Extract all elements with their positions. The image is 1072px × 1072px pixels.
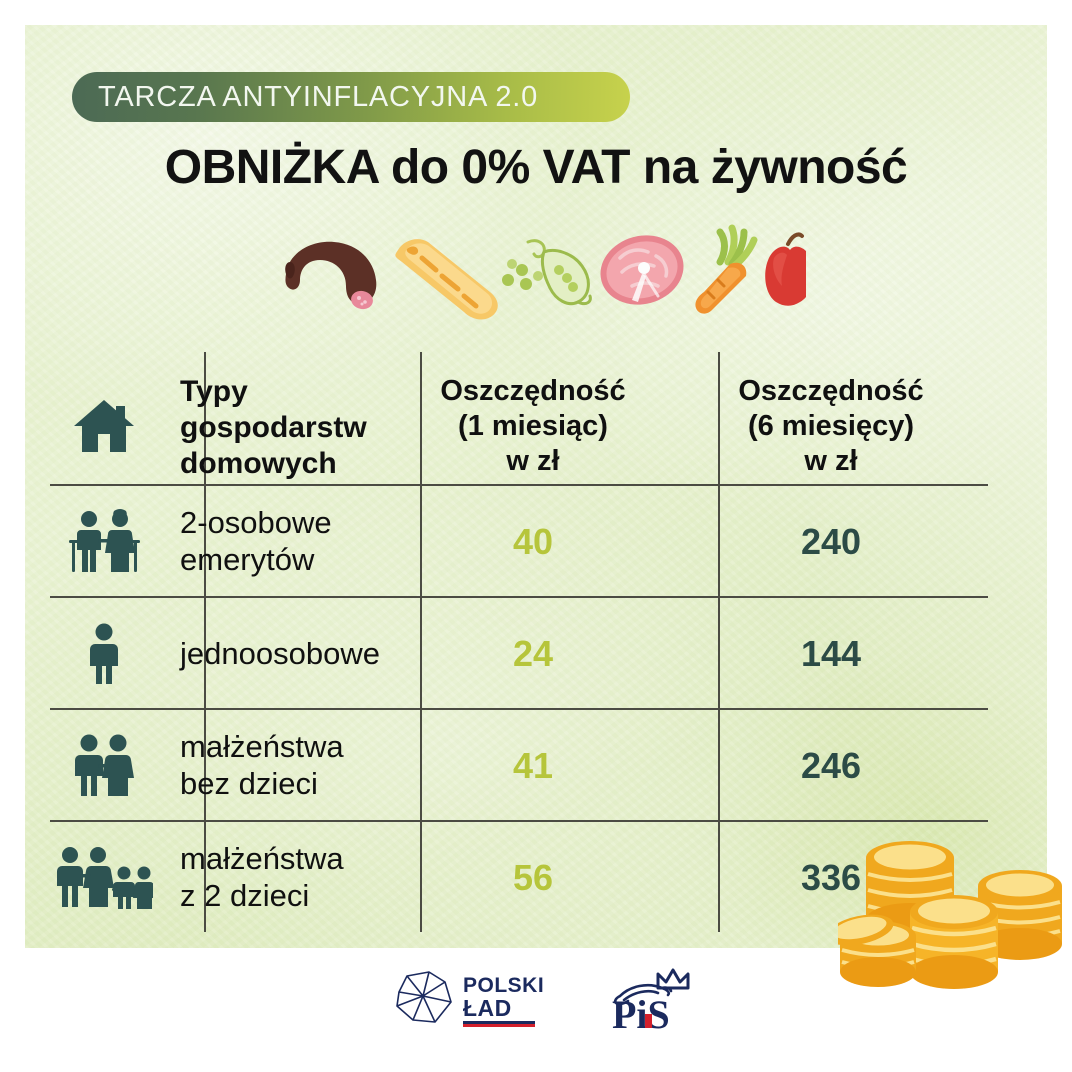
row-label: jednoosobowe bbox=[158, 636, 384, 673]
header-col2-line-2: (6 miesięcy) bbox=[682, 409, 980, 444]
sausage-icon bbox=[285, 242, 376, 311]
baguette-icon bbox=[395, 239, 497, 319]
header-household-type: Typy gospodarstw domowych bbox=[158, 366, 384, 482]
header-line-3: domowych bbox=[180, 446, 384, 482]
header-col1-line-1: Oszczędność bbox=[384, 374, 682, 409]
row-value-6-months: 246 bbox=[682, 745, 980, 787]
table-row: małżeństwa bez dzieci 41 246 bbox=[50, 710, 980, 822]
pis-logo: PiS bbox=[600, 966, 700, 1036]
header-savings-6-months: Oszczędność (6 miesięcy) w zł bbox=[682, 366, 980, 478]
poland-outline-icon bbox=[397, 972, 451, 1022]
header-col1-line-3: w zł bbox=[384, 444, 682, 479]
row-value-1-month: 56 bbox=[384, 857, 682, 899]
food-icons-strip bbox=[276, 214, 806, 326]
row-label-line-1: 2-osobowe bbox=[180, 505, 384, 542]
house-icon bbox=[50, 366, 158, 486]
header-col2-line-1: Oszczędność bbox=[682, 374, 980, 409]
apple-icon bbox=[765, 234, 806, 305]
row-label: małżeństwa z 2 dzieci bbox=[158, 841, 384, 914]
row-label-line-1: jednoosobowe bbox=[180, 636, 384, 673]
header-col2-line-3: w zł bbox=[682, 444, 980, 479]
polski-lad-line-2: ŁAD bbox=[463, 995, 512, 1021]
campaign-banner: TARCZA ANTYINFLACYJNA 2.0 bbox=[72, 72, 630, 122]
salmon-steak-icon bbox=[593, 226, 692, 313]
row-value-1-month: 24 bbox=[384, 633, 682, 675]
elderly-couple-icon bbox=[50, 486, 158, 598]
polski-lad-logo: POLSKI ŁAD bbox=[393, 968, 563, 1030]
page-title: OBNIŻKA do 0% VAT na żywność bbox=[0, 140, 1072, 195]
header-line-2: gospodarstw bbox=[180, 410, 384, 446]
polski-lad-underline-navy bbox=[463, 1021, 535, 1024]
footer-logos: POLSKI ŁAD PiS bbox=[0, 968, 1072, 1048]
table-row: 2-osobowe emerytów 40 240 bbox=[50, 486, 980, 598]
table-row: jednoosobowe 24 144 bbox=[50, 598, 980, 710]
header-line-1: Typy bbox=[180, 374, 384, 410]
single-person-icon bbox=[50, 598, 158, 710]
couple-icon bbox=[50, 710, 158, 822]
polski-lad-underline-red bbox=[463, 1024, 535, 1027]
header-savings-1-month: Oszczędność (1 miesiąc) w zł bbox=[384, 366, 682, 478]
crown-icon bbox=[658, 970, 688, 988]
infographic-canvas: TARCZA ANTYINFLACYJNA 2.0 OBNIŻKA do 0% … bbox=[0, 0, 1072, 1072]
family-two-children-icon bbox=[50, 822, 158, 934]
header-col1-line-2: (1 miesiąc) bbox=[384, 409, 682, 444]
polski-lad-line-1: POLSKI bbox=[463, 974, 544, 997]
row-label-line-2: emerytów bbox=[180, 542, 384, 579]
pis-wordmark: PiS bbox=[612, 992, 670, 1036]
banner-label: TARCZA ANTYINFLACYJNA 2.0 bbox=[72, 81, 538, 114]
row-label-line-2: z 2 dzieci bbox=[180, 878, 384, 915]
row-label: małżeństwa bez dzieci bbox=[158, 729, 384, 802]
row-label-line-2: bez dzieci bbox=[180, 766, 384, 803]
row-value-6-months: 144 bbox=[682, 633, 980, 675]
row-value-6-months: 240 bbox=[682, 521, 980, 563]
row-label: 2-osobowe emerytów bbox=[158, 505, 384, 578]
pis-red-accent bbox=[645, 1014, 652, 1028]
row-value-1-month: 41 bbox=[384, 745, 682, 787]
row-label-line-1: małżeństwa bbox=[180, 729, 384, 766]
row-value-1-month: 40 bbox=[384, 521, 682, 563]
peas-icon bbox=[502, 241, 590, 304]
row-label-line-1: małżeństwa bbox=[180, 841, 384, 878]
carrot-icon bbox=[695, 228, 754, 314]
table-header-row: Typy gospodarstw domowych Oszczędność (1… bbox=[50, 352, 980, 486]
